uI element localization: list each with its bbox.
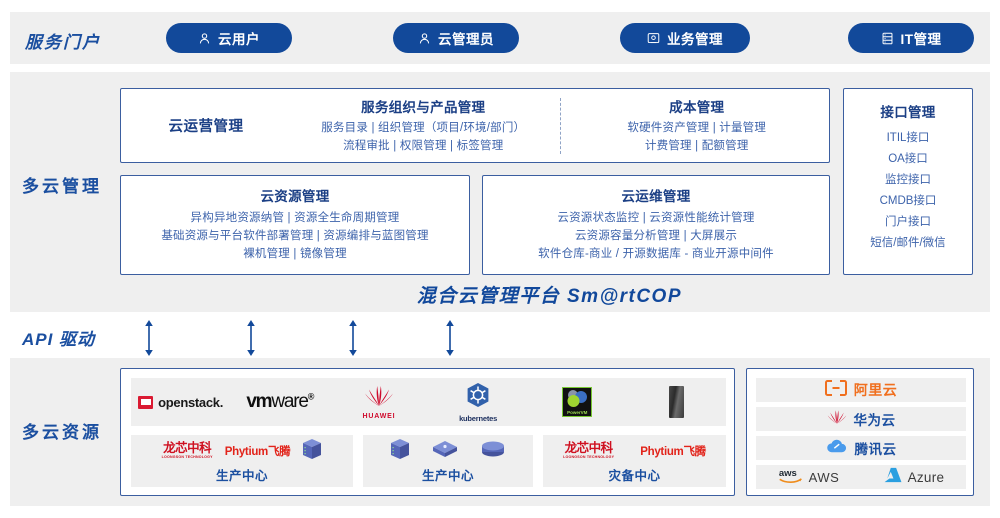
interface-item: 门户接口: [844, 212, 972, 233]
box-line: 云资源容量分析管理 | 大屏展示: [483, 227, 829, 245]
bidirectional-arrow-icon: [444, 320, 456, 356]
cloud-maintenance-management-box: 云运维管理 云资源状态监控 | 云资源性能统计管理 云资源容量分析管理 | 大屏…: [482, 175, 830, 275]
user-icon: [418, 32, 431, 45]
svg-text:aws: aws: [779, 467, 797, 478]
azure-icon: [883, 467, 903, 488]
huawei-logo-text: HUAWEI: [363, 413, 396, 420]
aliyun-icon: [825, 380, 847, 401]
public-cloud-huawei: 华为云: [756, 407, 966, 431]
interface-item: 监控接口: [844, 170, 972, 191]
public-cloud-label: 华为云: [854, 409, 896, 429]
interface-item: OA接口: [844, 149, 972, 170]
vertical-dashed-divider: [560, 98, 561, 154]
portal-pill-business-mgmt[interactable]: 业务管理: [620, 23, 750, 53]
portal-pill-label: 业务管理: [667, 28, 723, 48]
dc-label: 生产中心: [422, 465, 474, 484]
huawei-logo: HUAWEI: [329, 385, 428, 420]
huawei-flower-icon: [364, 385, 394, 412]
user-icon: [198, 32, 211, 45]
public-cloud-aws-azure-row: aws AWS Azure: [756, 465, 966, 489]
tencent-cloud-icon: [826, 438, 848, 459]
kubernetes-helm-icon: [465, 382, 491, 413]
box-line: 异构异地资源纳管 | 资源全生命周期管理: [121, 209, 469, 227]
bidirectional-arrow-icon: [143, 320, 155, 356]
cloud-resource-management-box: 云资源管理 异构异地资源纳管 | 资源全生命周期管理 基础资源与平台软件部署管理…: [120, 175, 470, 275]
loongson-logo-subtext: LOONGSON TECHNOLOGY: [162, 456, 213, 460]
box-title: 云运维管理: [483, 185, 829, 205]
portal-pill-cloud-user[interactable]: 云用户: [166, 23, 292, 53]
storage-disk-icon: [432, 439, 458, 464]
bidirectional-arrow-icon: [245, 320, 257, 356]
public-cloud-aws: aws AWS: [778, 466, 840, 489]
aws-icon: aws: [778, 466, 804, 489]
dc-disaster-recovery: 龙芯中科 LOONGSON TECHNOLOGY Phytium飞腾 灾备中心: [543, 435, 726, 487]
dc-label: 生产中心: [216, 465, 268, 484]
vmware-logo-text-bold: vm: [246, 391, 271, 412]
box-line: 云资源状态监控 | 云资源性能统计管理: [483, 209, 829, 227]
vmware-logo: vmware®: [230, 391, 329, 413]
powervm-logo-text: PowerVM: [563, 410, 591, 415]
interface-item: ITIL接口: [844, 128, 972, 149]
dc-label: 灾备中心: [608, 465, 660, 484]
box-title: 接口管理: [844, 101, 972, 121]
server-cube-icon: [390, 438, 410, 465]
server-cube-icon: [302, 438, 322, 465]
cloud-operation-management-title: 云运营管理: [121, 115, 291, 136]
public-cloud-aliyun: 阿里云: [756, 378, 966, 402]
multicloud-management-label: 多云管理: [22, 172, 102, 197]
dc-production-1: 龙芯中科 LOONGSON TECHNOLOGY Phytium飞腾 生产中心: [131, 435, 353, 487]
box-line: 基础资源与平台软件部署管理 | 资源编排与蓝图管理: [121, 227, 469, 245]
column-line: 软硬件资产管理 | 计量管理: [571, 119, 824, 137]
public-cloud-tencent: 腾讯云: [756, 436, 966, 460]
server-icon: [881, 32, 894, 45]
cost-management-column: 成本管理 软硬件资产管理 | 计量管理 计费管理 | 配额管理: [565, 96, 830, 155]
portal-pill-cloud-admin[interactable]: 云管理员: [393, 23, 519, 53]
huawei-icon: [827, 409, 847, 430]
interface-item: 短信/邮件/微信: [844, 233, 972, 254]
powervm-logo: PowerVM: [528, 387, 627, 417]
cloud-operation-management-box: 云运营管理 服务组织与产品管理 服务目录 | 组织管理（项目/环境/部门） 流程…: [120, 88, 830, 163]
loongson-logo-text: 龙芯中科: [565, 442, 613, 455]
public-cloud-azure: Azure: [883, 467, 945, 488]
phytium-logo: Phytium飞腾: [640, 443, 706, 459]
column-line: 服务目录 | 组织管理（项目/环境/部门）: [297, 119, 550, 137]
architecture-diagram: 服务门户 云用户 云管理员 业务管理 IT管理 多云管理 云运营管理 服务组织与…: [0, 0, 1000, 518]
service-org-product-mgmt-column: 服务组织与产品管理 服务目录 | 组织管理（项目/环境/部门） 流程审批 | 权…: [291, 96, 556, 155]
portal-pill-label: 云用户: [218, 28, 260, 48]
vmware-logo-text-light: ware: [271, 391, 307, 412]
kubernetes-logo-text: kubernetes: [459, 414, 497, 423]
private-cloud-resources-box: openstack. vmware®: [120, 368, 735, 496]
column-title: 成本管理: [571, 96, 824, 116]
loongson-logo-subtext: LOONGSON TECHNOLOGY: [563, 456, 614, 460]
loongson-logo: 龙芯中科 LOONGSON TECHNOLOGY: [563, 442, 614, 459]
interface-item: CMDB接口: [844, 191, 972, 212]
kubernetes-logo: kubernetes: [429, 382, 528, 423]
api-driven-label: API 驱动: [22, 325, 95, 350]
dc-production-2: 生产中心: [363, 435, 533, 487]
platform-logo-strip: openstack. vmware®: [131, 378, 726, 426]
column-title: 服务组织与产品管理: [297, 96, 550, 116]
interface-management-box: 接口管理 ITIL接口 OA接口 监控接口 CMDB接口 门户接口 短信/邮件/…: [843, 88, 973, 275]
multicloud-resource-label: 多云资源: [22, 418, 102, 443]
platform-title: 混合云管理平台 Sm@rtCOP: [0, 281, 682, 308]
openstack-mark-icon: [138, 396, 153, 409]
box-line: 软件仓库-商业 / 开源数据库 - 商业开源中间件: [483, 245, 829, 263]
openstack-logo: openstack.: [131, 395, 230, 410]
public-cloud-label: AWS: [809, 470, 840, 485]
public-cloud-resources-box: 阿里云 华为云: [746, 368, 974, 496]
portal-pill-it-mgmt[interactable]: IT管理: [848, 23, 974, 53]
bidirectional-arrow-icon: [347, 320, 359, 356]
loongson-logo-text: 龙芯中科: [163, 442, 211, 455]
portal-pill-label: IT管理: [901, 28, 942, 48]
public-cloud-label: Azure: [908, 470, 945, 485]
loongson-logo: 龙芯中科 LOONGSON TECHNOLOGY: [162, 442, 213, 459]
database-cylinder-icon: [480, 440, 506, 463]
public-cloud-label: 腾讯云: [855, 438, 897, 458]
public-cloud-label: 阿里云: [854, 380, 898, 400]
openstack-logo-text: openstack.: [158, 395, 223, 410]
column-line: 流程审批 | 权限管理 | 标签管理: [297, 137, 550, 155]
box-line: 裸机管理 | 镜像管理: [121, 245, 469, 263]
monitor-icon: [647, 32, 660, 45]
service-portal-label: 服务门户: [25, 28, 101, 53]
phytium-logo: Phytium飞腾: [225, 443, 291, 459]
portal-pill-label: 云管理员: [438, 28, 494, 48]
column-line: 计费管理 | 配额管理: [571, 137, 824, 155]
server-rack-image: [627, 386, 726, 418]
box-title: 云资源管理: [121, 185, 469, 205]
